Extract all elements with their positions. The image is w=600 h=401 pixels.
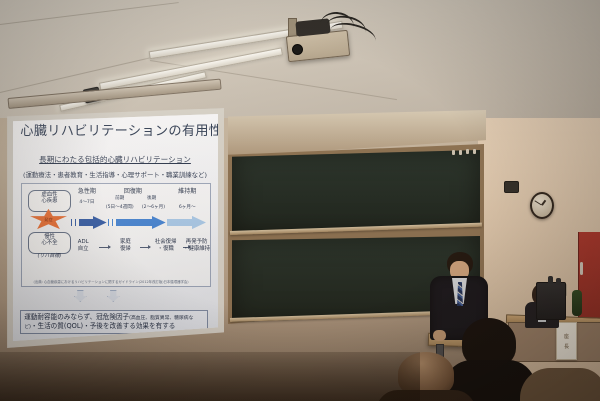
panelist-desk-front <box>508 322 600 362</box>
board-clip-icon <box>466 149 469 154</box>
phase-duration-early: (5日〜4週間) <box>101 204 138 210</box>
diagnosis-line-2: 心不全 <box>29 240 70 246</box>
goal-connector-arrow <box>99 247 110 248</box>
slide-subtitle-secondary: (運動療法・患者教育・生活指導・心理サポート・職業訓練など) <box>12 170 218 179</box>
goal-line-2: ・復職 <box>150 246 182 252</box>
av-equipment-stack <box>536 282 566 320</box>
onset-star-label: 発症 <box>44 217 52 223</box>
goal-line-2: ・健康維持 <box>180 246 214 252</box>
diagnosis-line-2: 心疾患 <box>29 198 70 204</box>
diagnosis-box-ischemic: 虚血性 心疾患 <box>28 190 71 211</box>
goal-home: 家庭 復帰 <box>112 239 138 251</box>
wall-speaker-icon <box>504 181 519 193</box>
presentation-slide: 心臓リハビリテーションの有用性 長期にわたる包括的心臓リハビリテーション (運動… <box>12 114 218 341</box>
wall-clock <box>530 192 554 219</box>
goal-line-2: 復帰 <box>112 246 138 252</box>
callout-main-2: ・生活の質(QOL)・予後を改善する効果を有する <box>31 322 175 330</box>
blackboard-upper <box>232 150 480 234</box>
projection-screen: 心臓リハビリテーションの有用性 長期にわたる包括的心臓リハビリテーション (運動… <box>12 114 218 341</box>
phase-arrow-maintenance <box>167 216 206 229</box>
presenter-hand <box>433 330 446 341</box>
goal-connector-arrow <box>140 247 149 248</box>
phase-duration-maintenance: 6ヶ月〜 <box>170 204 204 210</box>
phase-arrow-acute <box>71 216 107 229</box>
phase-label-acute: 急性期 <box>71 186 103 195</box>
arrow-divider <box>72 219 75 226</box>
onset-star-icon: 発症 <box>29 209 68 231</box>
phase-sub-early: 前期 <box>105 195 135 201</box>
lecture-hall-photo: 心臓リハビリテーションの有用性 長期にわたる包括的心臓リハビリテーション (運動… <box>0 0 600 401</box>
rehab-phase-diagram: 虚血性 心疾患 発症 慢性 心不全 (リハ目標) 急性期 4〜7日 回復期 前期… <box>21 183 210 287</box>
green-plant <box>572 290 582 316</box>
board-clip-icon <box>452 150 455 155</box>
board-clip-icon <box>459 150 462 155</box>
phase-duration-acute: 4〜7日 <box>71 199 103 205</box>
goal-adl: ADL 自立 <box>69 239 97 251</box>
goal-social: 社会復帰 ・復職 <box>150 239 182 251</box>
goal-prevention: 再発予防 ・健康維持 <box>180 239 214 251</box>
phase-arrow-recovery <box>108 216 166 229</box>
name-placard-1: 座 長 <box>556 322 577 360</box>
slide-title: 心臓リハビリテーションの有用性 <box>20 120 210 139</box>
slide-subtitle: 長期にわたる包括的心臓リハビリテーション <box>12 154 218 165</box>
door-handle[interactable] <box>580 262 583 275</box>
placard-mark: 長 <box>564 343 569 350</box>
clock-hour-hand-icon <box>541 200 546 206</box>
foreground-shadow <box>0 352 420 401</box>
arrow-divider <box>109 219 112 226</box>
down-arrow-icon-left <box>74 290 87 302</box>
equipment-knob-icon[interactable] <box>556 278 561 285</box>
board-clip-icon <box>473 149 476 154</box>
down-arrow-icon-right <box>107 290 120 302</box>
phase-label-maintenance: 維持期 <box>170 186 204 195</box>
phase-label-recovery: 回復期 <box>107 186 159 195</box>
equipment-knob-icon[interactable] <box>548 276 553 284</box>
callout-main-1: 運動耐容能のみならず、冠危険因子 <box>24 313 129 321</box>
phase-duration-late: (2〜6ヶ月) <box>135 204 172 210</box>
phase-sub-late: 後期 <box>137 195 167 201</box>
callout-small-1: (高血圧、脂質異常、糖 <box>129 316 179 321</box>
goal-line-2: 自立 <box>69 246 97 252</box>
projector-lens-icon <box>292 44 303 55</box>
diagram-source-note: (出典: 心血管疾患におけるリハビリテーションに関するガイドライン(2012年改… <box>34 279 189 284</box>
diagnosis-box-heart-failure: 慢性 心不全 <box>28 232 71 253</box>
rehab-goal-label: (リハ目標) <box>28 252 71 259</box>
placard-mark: 座 <box>564 333 569 340</box>
audience-shoulders <box>520 368 600 401</box>
slide-subtitle-text: 長期にわたる包括的心臓リハビリテーション <box>39 155 191 164</box>
